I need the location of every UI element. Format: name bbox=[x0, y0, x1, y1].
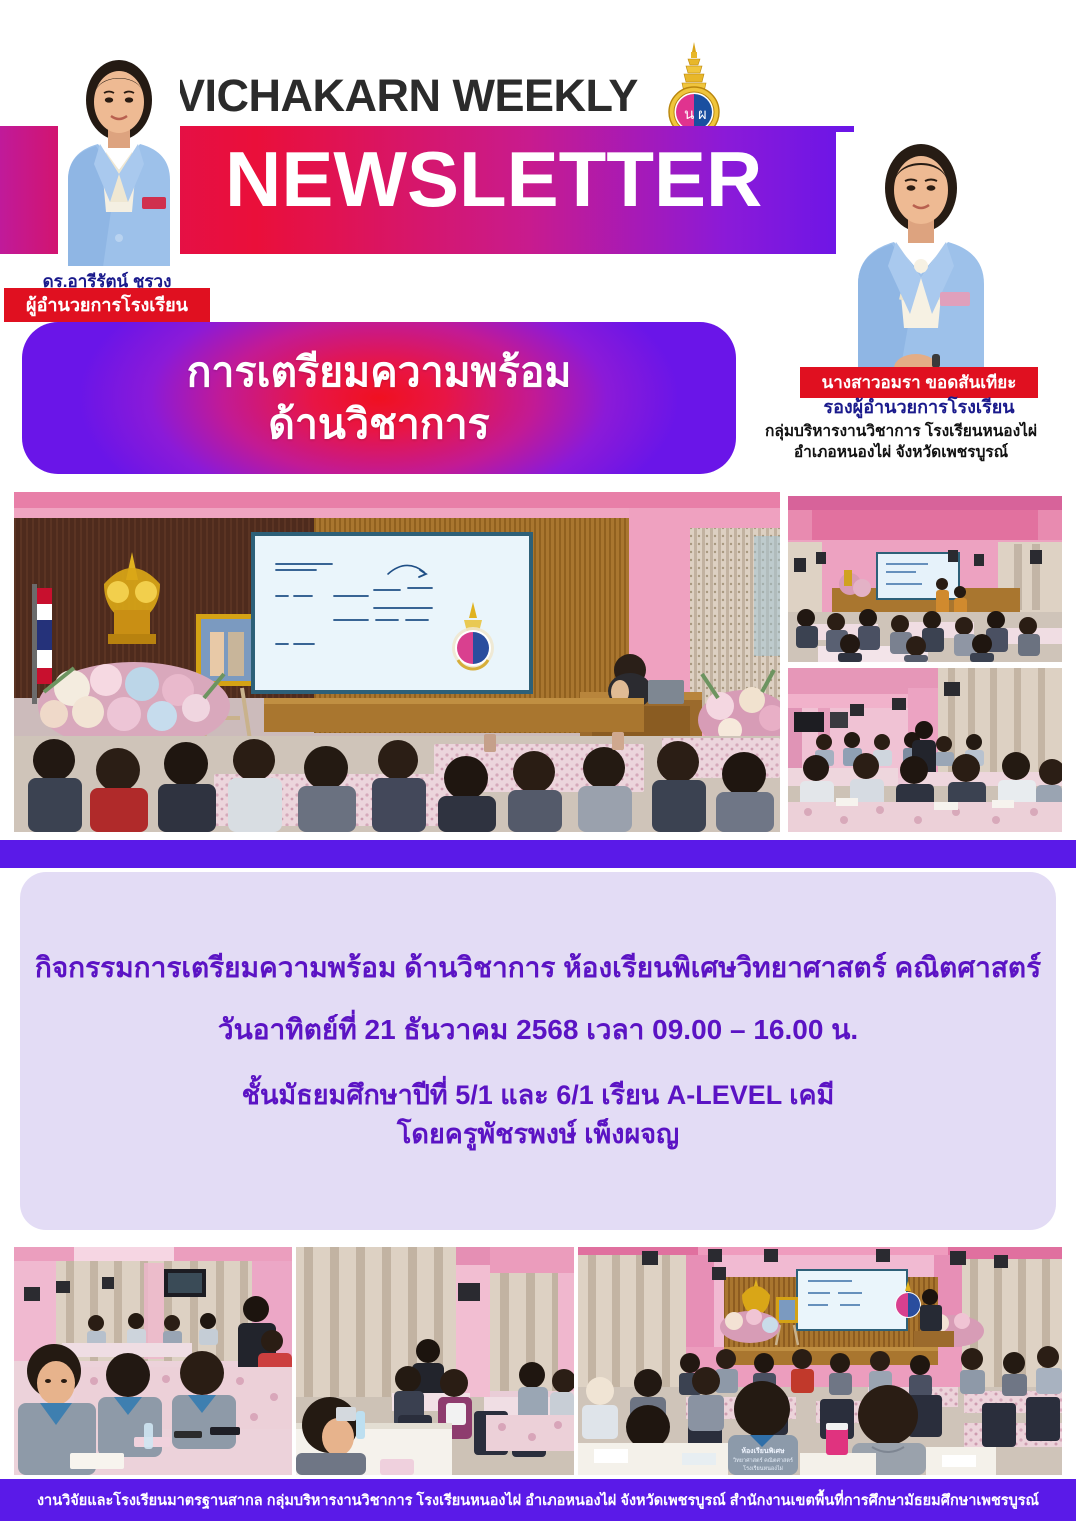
deputy-department-line2: อำเภอหนองไผ่ จังหวัดเพชรบูรณ์ bbox=[736, 443, 1066, 464]
photo-students-working-scene bbox=[788, 668, 1062, 832]
content-line-3: ชั้นมัธยมศึกษาปีที่ 5/1 และ 6/1 เรียน A-… bbox=[242, 1078, 835, 1113]
headline-line2: ด้านวิชาการ bbox=[268, 398, 489, 450]
footer-bar: งานวิจัยและโรงเรียนมาตรฐานสากล กลุ่มบริห… bbox=[0, 1479, 1076, 1521]
photo-students-desk-left bbox=[14, 1247, 292, 1475]
photo-students-desk-middle bbox=[296, 1247, 574, 1475]
director-position: ผู้อำนวยการโรงเรียน bbox=[4, 288, 210, 322]
svg-text:วิทยาศาสตร์ คณิตศาสตร์: วิทยาศาสตร์ คณิตศาสตร์ bbox=[732, 1457, 793, 1464]
content-panel: กิจกรรมการเตรียมความพร้อม ด้านวิชาการ ห้… bbox=[20, 872, 1056, 1230]
photo-students-desk-middle-scene bbox=[296, 1247, 574, 1475]
deputy-portrait bbox=[836, 132, 1006, 384]
director-portrait bbox=[58, 52, 180, 274]
svg-text:โรงเรียนหนองไผ่: โรงเรียนหนองไผ่ bbox=[743, 1464, 783, 1472]
deputy-portrait-figure bbox=[836, 132, 1006, 384]
svg-text:น: น bbox=[684, 105, 694, 123]
photo-students-desk-left-scene bbox=[14, 1247, 292, 1475]
photo-hall-wide-view-scene bbox=[788, 496, 1062, 662]
newsletter-page: VICHAKARN WEEKLY น ผ NEWSLETTER bbox=[0, 0, 1076, 1521]
deputy-position: รองผู้อำนวยการโรงเรียน bbox=[780, 392, 1058, 421]
photo-hall-wide-view bbox=[788, 496, 1062, 662]
content-text: กิจกรรมการเตรียมความพร้อม ด้านวิชาการ ห้… bbox=[20, 872, 1056, 1230]
deputy-department: กลุ่มบริหารงานวิชาการ โรงเรียนหนองไผ่ อำ… bbox=[736, 422, 1066, 464]
headline-pill: การเตรียมความพร้อม ด้านวิชาการ bbox=[22, 322, 736, 474]
svg-text:ผ: ผ bbox=[698, 105, 707, 123]
school-emblem-icon: น ผ bbox=[663, 42, 725, 136]
svg-text:ห้องเรียนพิเศษ: ห้องเรียนพิเศษ bbox=[741, 1446, 785, 1455]
masthead-title: VICHAKARN WEEKLY bbox=[175, 70, 638, 122]
divider-bar-upper bbox=[0, 840, 1076, 868]
photo-students-working bbox=[788, 668, 1062, 832]
photo-auditorium-back-view-scene: ห้องเรียนพิเศษ วิทยาศาสตร์ คณิตศาสตร์ โร… bbox=[578, 1247, 1062, 1475]
newsletter-banner-title: NEWSLETTER bbox=[225, 140, 762, 218]
photo-auditorium-presentation bbox=[14, 492, 780, 832]
content-line-4: โดยครูพัชรพงษ์ เพ็งผจญ bbox=[397, 1117, 679, 1152]
deputy-department-line1: กลุ่มบริหารงานวิชาการ โรงเรียนหนองไผ่ bbox=[736, 422, 1066, 443]
photo-auditorium-back-view: ห้องเรียนพิเศษ วิทยาศาสตร์ คณิตศาสตร์ โร… bbox=[578, 1247, 1062, 1475]
content-line-2: วันอาทิตย์ที่ 21 ธันวาคม 2568 เวลา 09.00… bbox=[218, 1012, 858, 1048]
director-portrait-figure bbox=[58, 52, 180, 274]
photo-auditorium-presentation-scene bbox=[14, 492, 780, 832]
footer-text: งานวิจัยและโรงเรียนมาตรฐานสากล กลุ่มบริห… bbox=[37, 1489, 1039, 1512]
headline-line1: การเตรียมความพร้อม bbox=[187, 346, 572, 398]
content-line-1: กิจกรรมการเตรียมความพร้อม ด้านวิชาการ ห้… bbox=[35, 950, 1041, 986]
headline-text: การเตรียมความพร้อม ด้านวิชาการ bbox=[22, 322, 736, 474]
